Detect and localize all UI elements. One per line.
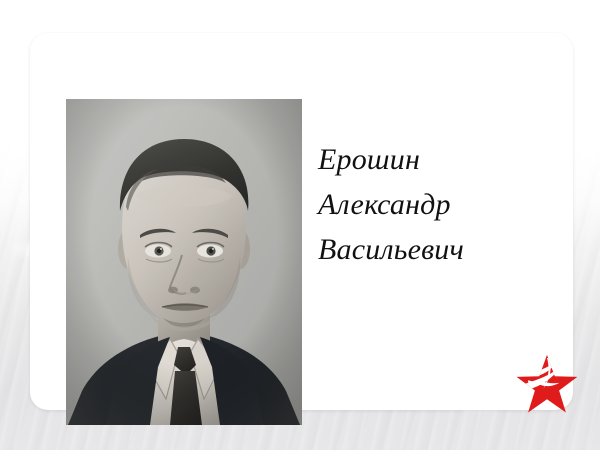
red-star-glyph [516, 353, 578, 415]
portrait-photo-image [66, 99, 302, 425]
name-line-patronymic: Васильевич [318, 227, 588, 272]
name-line-surname: Ерошин [318, 137, 588, 182]
person-name: Ерошин Александр Васильевич [318, 137, 588, 272]
red-star-icon [516, 353, 578, 415]
content-card: Ерошин Александр Васильевич [30, 33, 573, 410]
slide: Ерошин Александр Васильевич [0, 0, 600, 450]
name-line-given: Александр [318, 182, 588, 227]
portrait-photo [66, 99, 302, 425]
